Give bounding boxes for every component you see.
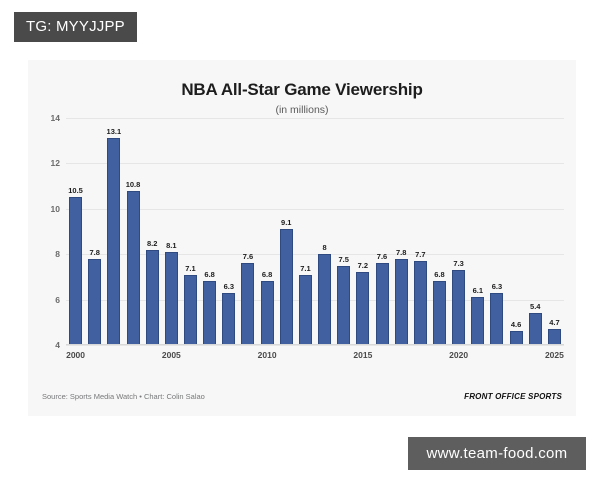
y-axis-tick-label: 10 <box>51 204 60 214</box>
bar[interactable] <box>203 281 216 345</box>
bar-value-label: 7.1 <box>300 264 310 273</box>
bar[interactable] <box>414 261 427 345</box>
bar-value-label: 6.1 <box>473 286 483 295</box>
bar-slot[interactable]: 7.32020 <box>449 118 468 345</box>
bar[interactable] <box>261 281 274 345</box>
bar-slot[interactable]: 6.8 <box>200 118 219 345</box>
bar[interactable] <box>88 259 101 345</box>
bar-slot[interactable]: 6.3 <box>487 118 506 345</box>
bar-value-label: 8.2 <box>147 239 157 248</box>
bar-chart-plot: 468101214 10.520007.813.110.88.28.120057… <box>66 118 564 345</box>
x-axis-line <box>66 344 564 345</box>
bar-slot[interactable]: 7.6 <box>372 118 391 345</box>
x-axis-tick-label: 2000 <box>66 350 85 360</box>
y-axis-tick-label: 14 <box>51 113 60 123</box>
bar[interactable] <box>529 313 542 345</box>
bar-slot[interactable]: 8 <box>315 118 334 345</box>
bar-value-label: 13.1 <box>107 127 122 136</box>
bar-value-label: 6.8 <box>262 270 272 279</box>
bar[interactable] <box>433 281 446 345</box>
x-axis-tick-label: 2005 <box>162 350 181 360</box>
bar-value-label: 10.5 <box>68 186 83 195</box>
bar[interactable] <box>318 254 331 345</box>
bar[interactable] <box>299 275 312 345</box>
bar[interactable] <box>452 270 465 345</box>
bar-value-label: 7.1 <box>185 264 195 273</box>
tg-overlay-tag: TG: MYYJJPP <box>14 12 137 42</box>
y-axis-tick-label: 4 <box>55 340 60 350</box>
site-watermark: www.team-food.com <box>408 437 586 470</box>
bar[interactable] <box>395 259 408 345</box>
bar-slot[interactable]: 7.1 <box>181 118 200 345</box>
plot-area: 468101214 10.520007.813.110.88.28.120057… <box>28 118 576 363</box>
bar-slot[interactable]: 6.82010 <box>258 118 277 345</box>
bar-value-label: 7.8 <box>89 248 99 257</box>
bar[interactable] <box>471 297 484 345</box>
chart-footer: Source: Sports Media Watch • Chart: Coli… <box>28 392 576 406</box>
bar-value-label: 6.8 <box>434 270 444 279</box>
bar-slot[interactable]: 7.1 <box>296 118 315 345</box>
x-axis-tick-label: 2025 <box>545 350 564 360</box>
bar[interactable] <box>356 272 369 345</box>
bar-slot[interactable]: 7.22015 <box>353 118 372 345</box>
bar-value-label: 8 <box>322 243 326 252</box>
bar-value-label: 9.1 <box>281 218 291 227</box>
bar[interactable] <box>510 331 523 345</box>
x-axis-tick-label: 2020 <box>449 350 468 360</box>
bar-slot[interactable]: 13.1 <box>104 118 123 345</box>
bar[interactable] <box>337 266 350 345</box>
bar[interactable] <box>376 263 389 345</box>
bar[interactable] <box>107 138 120 345</box>
chart-subtitle: (in millions) <box>28 104 576 116</box>
bar-slot[interactable]: 9.1 <box>277 118 296 345</box>
bar-slot[interactable]: 7.5 <box>334 118 353 345</box>
bar-value-label: 7.3 <box>453 259 463 268</box>
bar-slot[interactable]: 7.8 <box>85 118 104 345</box>
y-axis-tick-label: 6 <box>55 295 60 305</box>
gridline <box>66 345 564 346</box>
bar-slot[interactable]: 4.6 <box>507 118 526 345</box>
bar-value-label: 7.7 <box>415 250 425 259</box>
bar-value-label: 7.5 <box>338 255 348 264</box>
bar[interactable] <box>127 191 140 345</box>
bar[interactable] <box>146 250 159 345</box>
bar-series: 10.520007.813.110.88.28.120057.16.86.37.… <box>66 118 564 345</box>
bar-slot[interactable]: 8.2 <box>143 118 162 345</box>
y-axis-tick-label: 8 <box>55 249 60 259</box>
bar-slot[interactable]: 7.6 <box>238 118 257 345</box>
bar[interactable] <box>222 293 235 345</box>
bar-value-label: 6.3 <box>492 282 502 291</box>
bar[interactable] <box>280 229 293 345</box>
bar-slot[interactable]: 4.72025 <box>545 118 564 345</box>
x-axis-tick-label: 2015 <box>353 350 372 360</box>
bar-value-label: 7.6 <box>377 252 387 261</box>
bar-slot[interactable]: 10.52000 <box>66 118 85 345</box>
bar-value-label: 8.1 <box>166 241 176 250</box>
bar-value-label: 6.8 <box>204 270 214 279</box>
bar[interactable] <box>490 293 503 345</box>
x-axis-tick-label: 2010 <box>258 350 277 360</box>
bar-slot[interactable]: 8.12005 <box>162 118 181 345</box>
bar-slot[interactable]: 6.8 <box>430 118 449 345</box>
bar-value-label: 4.6 <box>511 320 521 329</box>
bar-value-label: 5.4 <box>530 302 540 311</box>
source-note: Source: Sports Media Watch • Chart: Coli… <box>42 392 205 401</box>
bar-slot[interactable]: 10.8 <box>123 118 142 345</box>
bar[interactable] <box>165 252 178 345</box>
bar-slot[interactable]: 6.3 <box>219 118 238 345</box>
front-office-sports-logo: FRONT OFFICE SPORTS <box>464 392 562 401</box>
bar[interactable] <box>184 275 197 345</box>
bar-value-label: 7.8 <box>396 248 406 257</box>
bar-slot[interactable]: 6.1 <box>468 118 487 345</box>
bar-slot[interactable]: 5.4 <box>526 118 545 345</box>
bar-value-label: 7.2 <box>358 261 368 270</box>
chart-title: NBA All-Star Game Viewership <box>28 80 576 100</box>
bar-value-label: 6.3 <box>224 282 234 291</box>
bar-value-label: 10.8 <box>126 180 141 189</box>
bar-value-label: 7.6 <box>243 252 253 261</box>
bar-value-label: 4.7 <box>549 318 559 327</box>
bar[interactable] <box>548 329 561 345</box>
bar[interactable] <box>69 197 82 345</box>
bar-slot[interactable]: 7.7 <box>411 118 430 345</box>
bar[interactable] <box>241 263 254 345</box>
y-axis-tick-label: 12 <box>51 158 60 168</box>
bar-slot[interactable]: 7.8 <box>392 118 411 345</box>
chart-card: NBA All-Star Game Viewership (in million… <box>28 60 576 416</box>
